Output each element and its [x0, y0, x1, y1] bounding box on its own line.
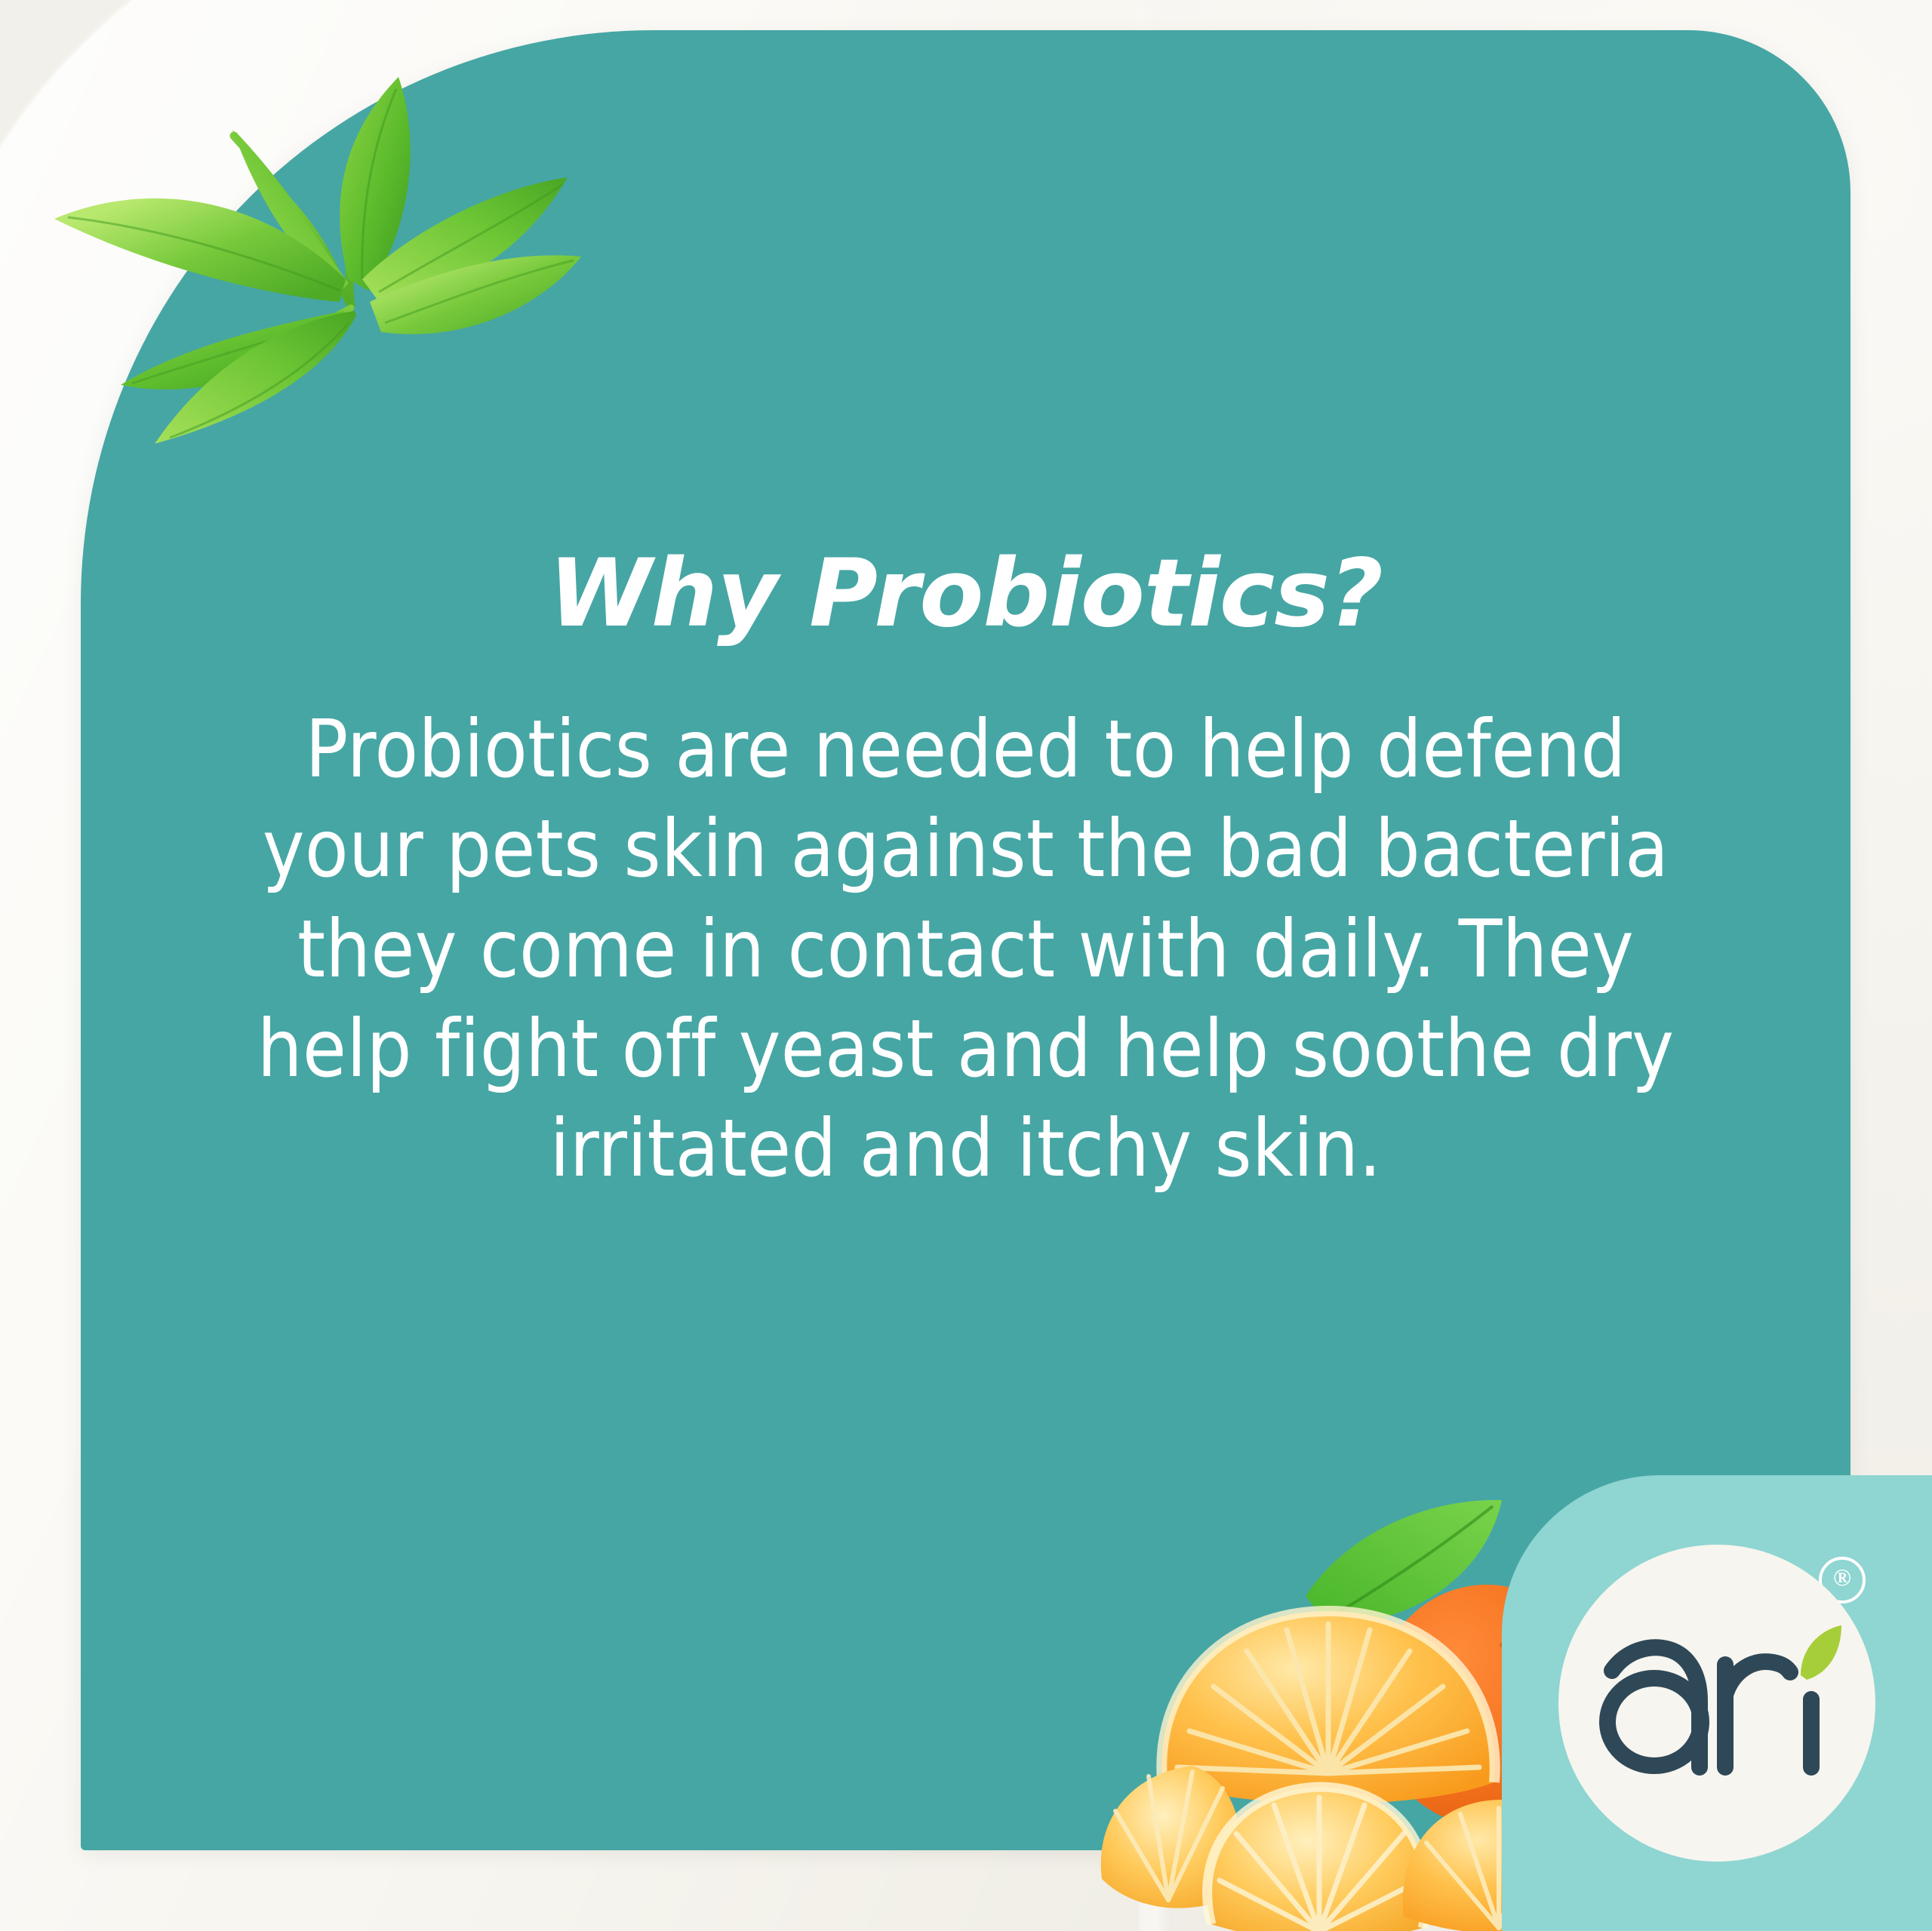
brand-logo-panel[interactable]: ®	[1502, 1475, 1932, 1931]
tea-leaf-sprig-image	[8, 30, 596, 453]
ari-wordmark-icon	[1592, 1616, 1841, 1790]
poster-canvas: Why Probiotics? Probiotics are needed to…	[0, 0, 1932, 1931]
logo-disc	[1558, 1545, 1875, 1862]
